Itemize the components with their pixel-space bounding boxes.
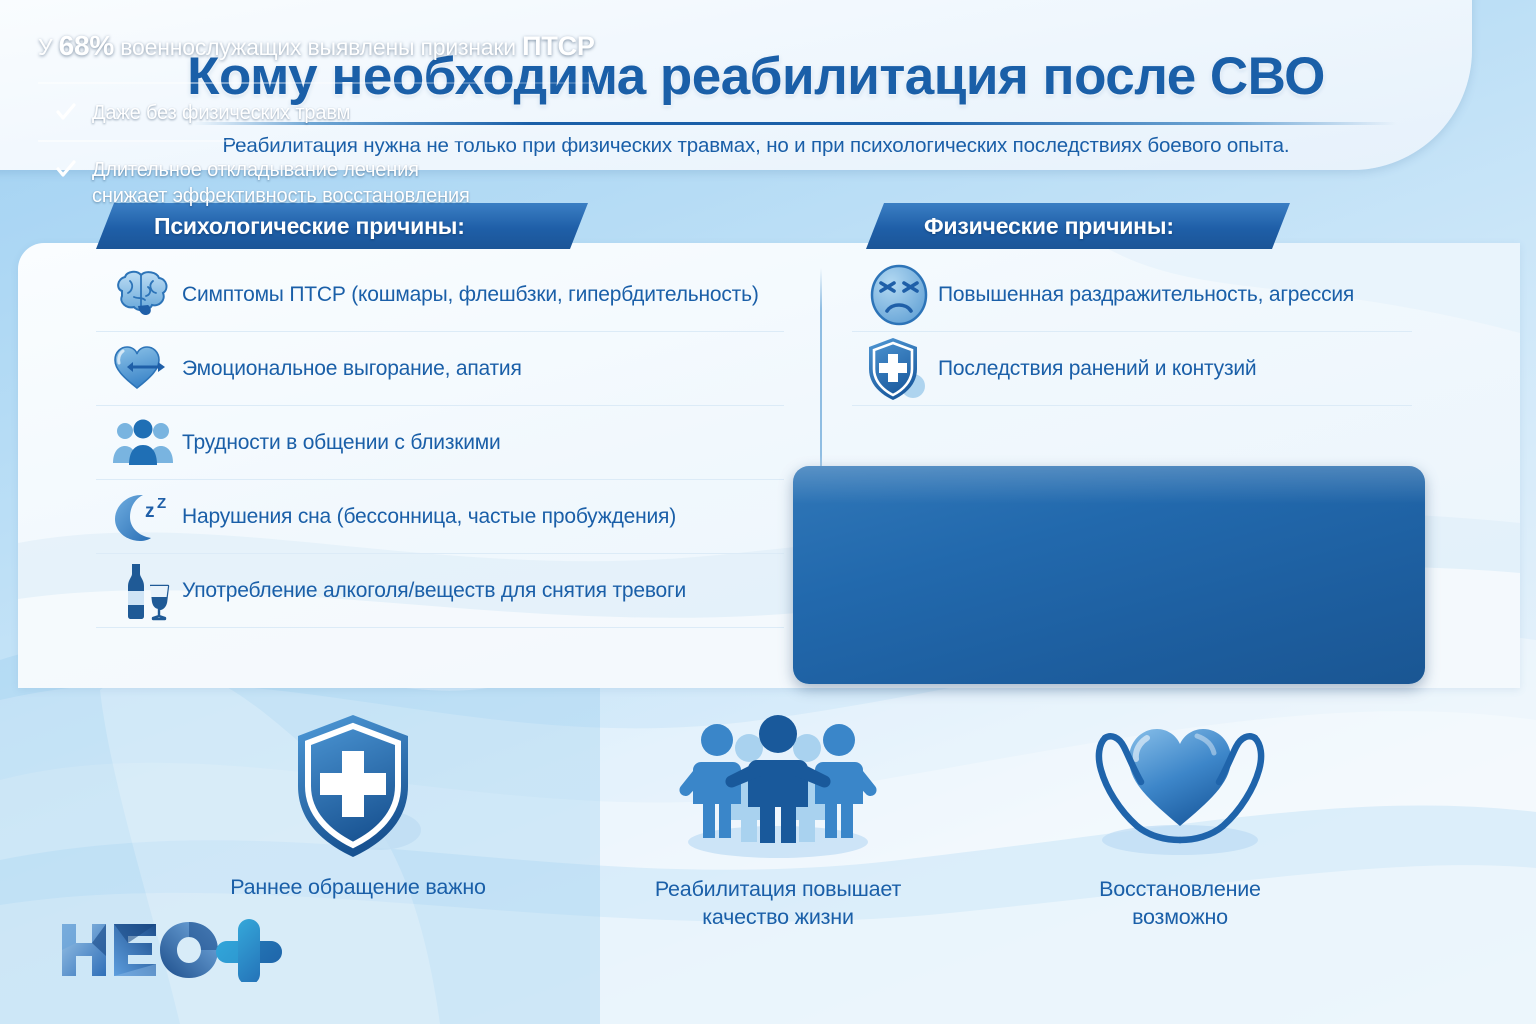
benefit-block: Восстановление возможно [1040, 712, 1320, 931]
statistic-headline: У 68% военнослужащих выявлены признаки П… [38, 30, 604, 62]
svg-text:Z: Z [157, 495, 166, 512]
list-item-label: Эмоциональное выгорание, апатия [182, 357, 522, 381]
logo-icon [58, 918, 288, 982]
benefit-caption: Реабилитация повышает качество жизни [638, 876, 918, 931]
column-divider [820, 268, 822, 496]
moon-sleep-icon: z Z [104, 486, 182, 548]
section-banner-psychological-label: Психологические причины: [96, 213, 465, 240]
list-item: Повышенная раздражительность, агрессия [852, 258, 1412, 332]
statistic-callout [793, 466, 1425, 684]
list-item: Симптомы ПТСР (кошмары, флешбзки, гиперб… [96, 258, 784, 332]
benefit-caption: Восстановление возможно [1040, 876, 1320, 931]
heart-arrow-icon [104, 338, 182, 400]
callout-divider-2 [38, 140, 594, 142]
statistic-prefix: У [38, 34, 52, 60]
section-banner-psychological: Психологические причины: [96, 203, 588, 249]
callout-divider-1 [38, 82, 594, 84]
check-icon [56, 160, 76, 180]
list-item: Трудности в общении с близкими [96, 406, 784, 480]
benefit-caption: Раннее обращение важно [218, 874, 498, 902]
section-banner-physical-label: Физические причины: [866, 213, 1174, 240]
logo [58, 918, 288, 982]
list-item: z Z Нарушения сна (бессонница, частые пр… [96, 480, 784, 554]
list-item-label: Симптомы ПТСР (кошмары, флешбзки, гиперб… [182, 283, 759, 307]
hands-heart-icon [1040, 712, 1320, 862]
angry-face-icon [860, 264, 938, 326]
callout-list-item-label: Длительное откладывание лечения снижает … [92, 157, 470, 210]
psychological-causes-list: Симптомы ПТСР (кошмары, флешбзки, гиперб… [96, 258, 784, 628]
list-item: Употребление алкоголя/веществ для снятия… [96, 554, 784, 628]
list-item-label: Нарушения сна (бессонница, частые пробуж… [182, 505, 676, 529]
list-item-label: Трудности в общении с близкими [182, 431, 501, 455]
title-divider [192, 122, 1397, 125]
benefit-block: Раннее обращение важно [218, 710, 498, 902]
list-item: Последствия ранений и контузий [852, 332, 1412, 406]
statistic-headline-rest: военнослужащих выявлены признаки [120, 34, 516, 60]
shield-cross-icon [860, 338, 938, 400]
list-item-label: Последствия ранений и контузий [938, 357, 1256, 381]
callout-gloss [793, 466, 1425, 504]
callout-list-item-label: Даже без физических травм [92, 100, 350, 126]
callout-list-item: Длительное откладывание лечения снижает … [56, 157, 470, 210]
statistic-value: 68% [59, 30, 114, 61]
bottle-glass-icon [104, 560, 182, 622]
page-subtitle: Реабилитация нужна не только при физичес… [40, 134, 1472, 158]
people-group-icon [104, 412, 182, 474]
shield-cross-icon [218, 710, 498, 860]
section-banner-physical: Физические причины: [866, 203, 1290, 249]
list-item-label: Повышенная раздражительность, агрессия [938, 283, 1354, 307]
list-item-label: Употребление алкоголя/веществ для снятия… [182, 579, 686, 603]
people-support-icon [638, 712, 918, 862]
check-icon [56, 103, 76, 123]
brain-icon [104, 264, 182, 326]
physical-causes-list: Повышенная раздражительность, агрессия П… [852, 258, 1412, 406]
callout-list-item: Даже без физических травм [56, 100, 350, 126]
svg-text:z: z [145, 501, 155, 522]
statistic-headline-tail: ПТСР [522, 31, 595, 61]
list-item: Эмоциональное выгорание, апатия [96, 332, 784, 406]
benefit-block: Реабилитация повышает качество жизни [638, 712, 918, 931]
